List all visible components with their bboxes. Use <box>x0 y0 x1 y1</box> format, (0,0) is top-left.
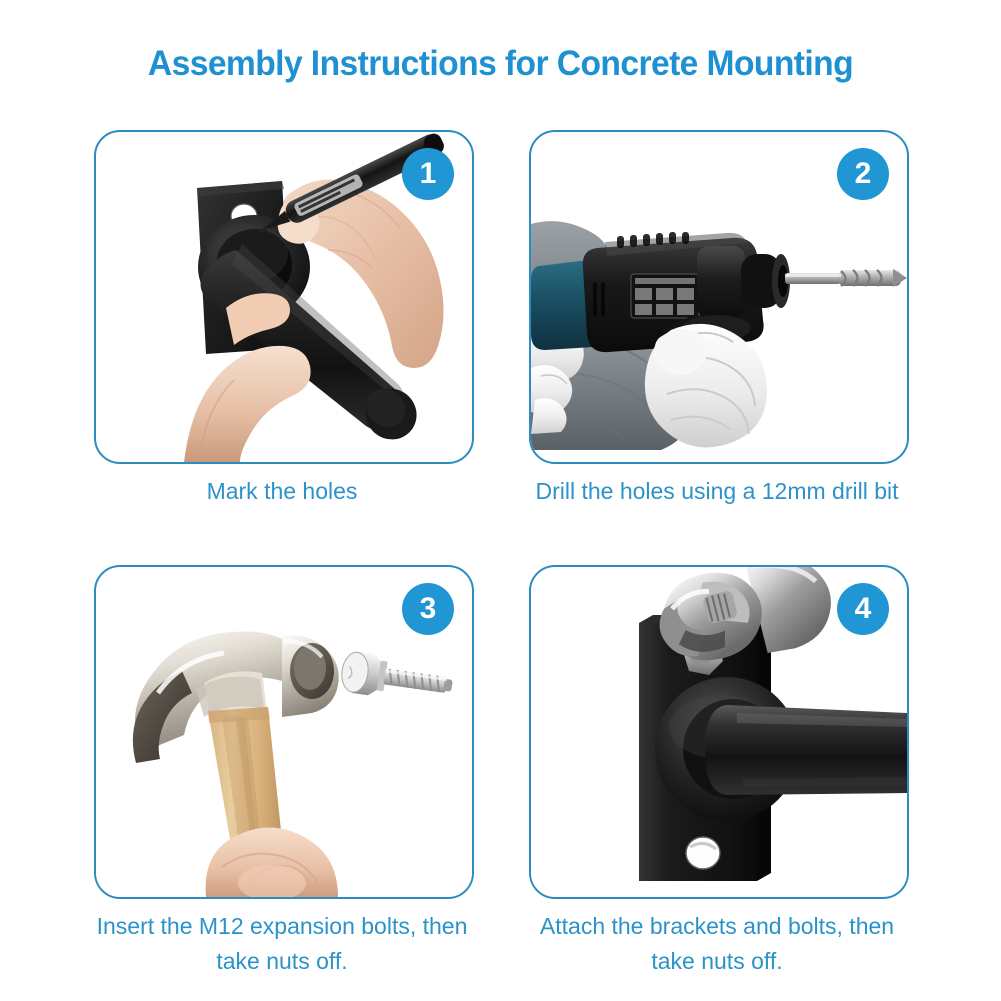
step-number-badge-2: 2 <box>837 148 889 200</box>
drill-chuck <box>697 246 790 318</box>
glove-right <box>645 324 767 448</box>
step-3-frame: 3 <box>94 565 474 899</box>
step-2-frame: 2 <box>529 130 909 464</box>
m12-expansion-bolt <box>339 650 455 707</box>
step-caption-4: Attach the brackets and bolts, then take… <box>519 909 915 979</box>
step-number-badge-3: 3 <box>402 583 454 635</box>
bar-4 <box>705 705 907 795</box>
hand-grip <box>206 827 338 897</box>
step-number-badge-4: 4 <box>837 583 889 635</box>
step-4-frame: 4 <box>529 565 909 899</box>
step-caption-2: Drill the holes using a 12mm drill bit <box>519 474 915 509</box>
masonry-drill-bit <box>785 269 907 287</box>
step-1-frame: 1 <box>94 130 474 464</box>
steps-grid: 1 Mark the holes <box>0 0 1001 1001</box>
step-number-badge-1: 1 <box>402 148 454 200</box>
instruction-sheet: Assembly Instructions for Concrete Mount… <box>0 0 1001 1001</box>
step-caption-3: Insert the M12 expansion bolts, then tak… <box>84 909 480 979</box>
step-caption-1: Mark the holes <box>84 474 480 509</box>
